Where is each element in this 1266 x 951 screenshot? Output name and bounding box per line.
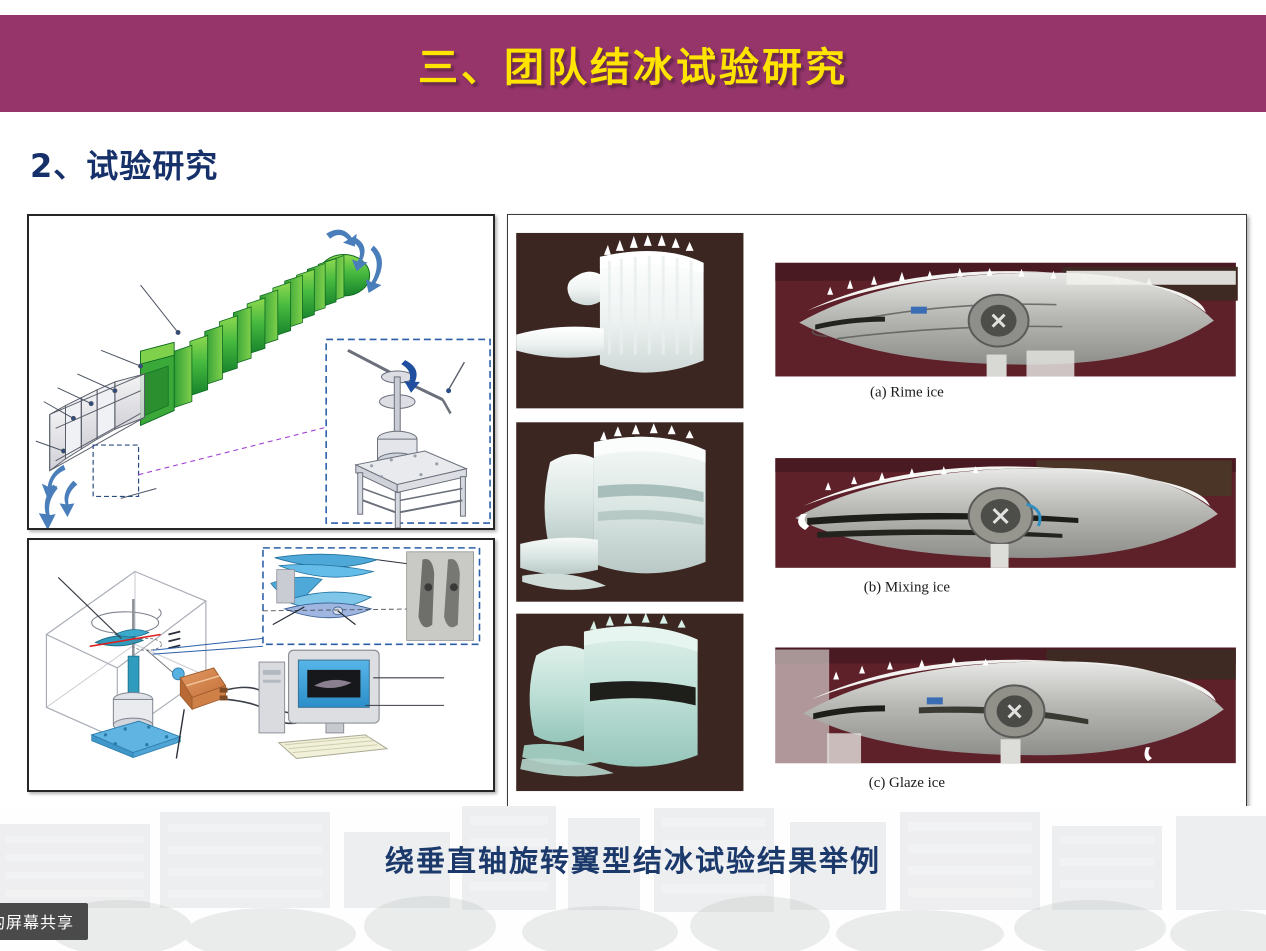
section-subtitle: 2、试验研究 xyxy=(30,141,218,187)
ice-row-glaze xyxy=(516,613,1236,791)
header-band: 三、团队结冰试验研究 xyxy=(0,15,1266,112)
camera-device xyxy=(172,668,227,759)
airfoil-detail-callout xyxy=(153,548,480,654)
slide-footer-caption: 绕垂直轴旋转翼型结冰试验结果举例 xyxy=(0,838,1266,880)
ice-results-panel: (a) Rime ice xyxy=(507,214,1247,811)
page-title: 三、团队结冰试验研究 xyxy=(418,35,848,93)
ice-caption-rime: (a) Rime ice xyxy=(870,384,944,400)
slide-canvas: 三、团队结冰试验研究 2、试验研究 xyxy=(0,0,1266,951)
ice-row-rime xyxy=(516,233,1238,408)
ice-row-mixing xyxy=(516,422,1236,601)
wind-tunnel-diagram-panel xyxy=(27,214,495,530)
ice-caption-mixing: (b) Mixing ice xyxy=(864,580,951,596)
rotating-rig-svg xyxy=(29,540,493,790)
ice-photo-grid-svg: (a) Rime ice xyxy=(508,215,1246,810)
ice-caption-glaze: (c) Glaze ice xyxy=(869,775,946,791)
rotating-rig-panel xyxy=(27,538,495,792)
inlet-duct-sections xyxy=(50,374,145,471)
wind-tunnel-svg xyxy=(29,216,493,528)
rotating-model-assembly xyxy=(58,577,180,757)
computer-workstation xyxy=(259,650,444,758)
screen-share-indicator[interactable]: 电的屏幕共享 xyxy=(0,903,88,940)
